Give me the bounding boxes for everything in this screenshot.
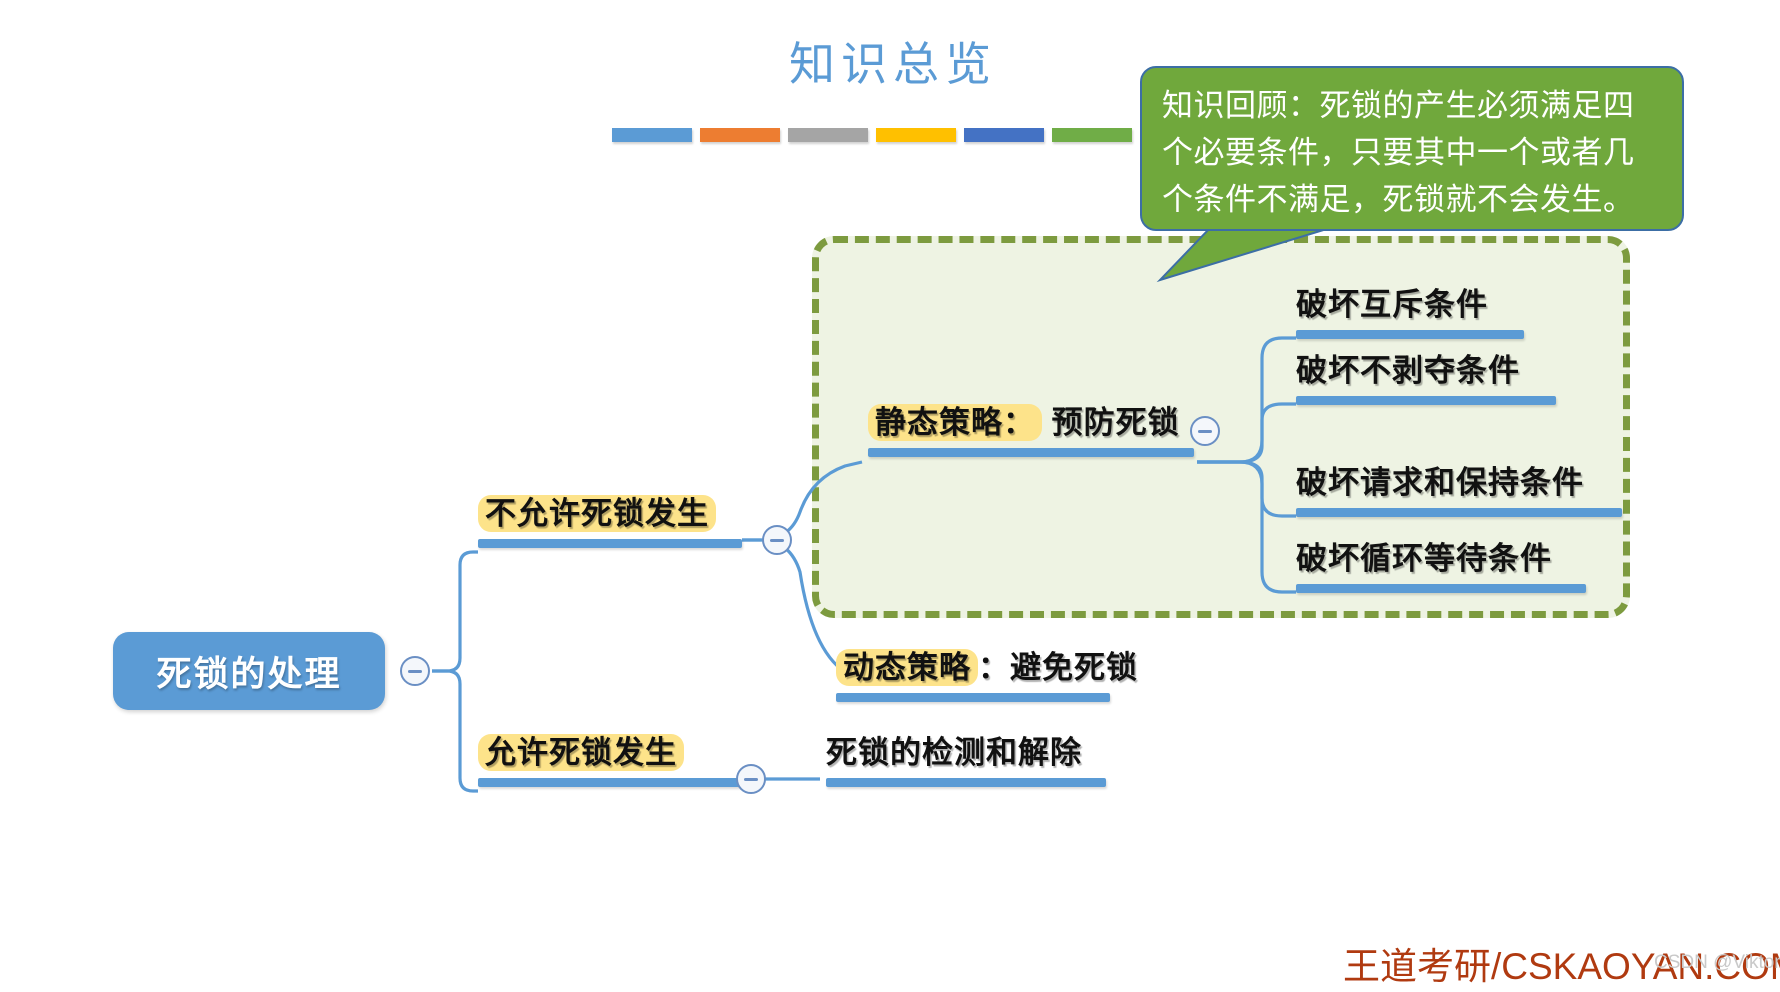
node-dynamic-strategy[interactable]: 动态策略：避免死锁 — [836, 648, 1138, 702]
node-bar-dynamic-strategy — [836, 693, 1110, 702]
node-break-circular-wait[interactable]: 破坏循环等待条件 — [1296, 539, 1586, 593]
title-bar-segment-5 — [964, 128, 1044, 142]
minus-circle-icon-allow-deadlock[interactable] — [736, 764, 766, 794]
node-break-mutex[interactable]: 破坏互斥条件 — [1296, 285, 1524, 339]
node-bar-break-hold-and-wait — [1296, 508, 1622, 517]
node-break-circular-wait-label: 破坏循环等待条件 — [1296, 539, 1552, 579]
node-break-hold-and-wait-label: 破坏请求和保持条件 — [1296, 463, 1584, 503]
node-bar-detect-and-recover — [826, 778, 1106, 787]
node-bar-static-strategy — [868, 448, 1194, 457]
node-not-allow-deadlock-label: 不允许死锁发生 — [478, 494, 716, 534]
node-allow-deadlock-label: 允许死锁发生 — [478, 733, 684, 773]
root-node-label: 死锁的处理 — [156, 646, 341, 697]
minus-circle-icon-not-allow-deadlock[interactable] — [762, 525, 792, 555]
title-bar-segment-4 — [876, 128, 956, 142]
node-static-strategy-label: 静态策略： 预防死锁 — [868, 403, 1180, 443]
node-allow-deadlock[interactable]: 允许死锁发生 — [478, 733, 742, 787]
title-color-bars — [612, 128, 1132, 142]
node-bar-break-no-preempt — [1296, 396, 1556, 405]
minus-circle-icon-root[interactable] — [400, 656, 430, 686]
footer-watermark: CSDN @Viktoriae — [1654, 952, 1780, 974]
node-dynamic-strategy-label: 动态策略：避免死锁 — [836, 648, 1138, 688]
node-break-no-preempt[interactable]: 破坏不剥夺条件 — [1296, 351, 1556, 405]
slide-canvas: 知识总览 知识回顾：死锁的产生必 — [0, 0, 1780, 992]
node-detect-and-recover-label: 死锁的检测和解除 — [826, 733, 1082, 773]
node-static-strategy[interactable]: 静态策略： 预防死锁 — [868, 403, 1194, 457]
node-detect-and-recover[interactable]: 死锁的检测和解除 — [826, 733, 1106, 787]
node-bar-allow-deadlock — [478, 778, 742, 787]
title-bar-segment-2 — [700, 128, 780, 142]
node-break-no-preempt-label: 破坏不剥夺条件 — [1296, 351, 1520, 391]
root-node-deadlock-handling[interactable]: 死锁的处理 — [113, 632, 385, 710]
node-break-mutex-label: 破坏互斥条件 — [1296, 285, 1488, 325]
node-bar-not-allow-deadlock — [478, 539, 742, 548]
title-bar-segment-3 — [788, 128, 868, 142]
callout-text: 知识回顾：死锁的产生必须满足四个必要条件，只要其中一个或者几个条件不满足，死锁就… — [1162, 82, 1662, 223]
node-not-allow-deadlock[interactable]: 不允许死锁发生 — [478, 494, 742, 548]
minus-circle-icon-static-strategy[interactable] — [1190, 416, 1220, 446]
knowledge-recap-callout: 知识回顾：死锁的产生必须满足四个必要条件，只要其中一个或者几个条件不满足，死锁就… — [1140, 66, 1684, 231]
node-break-hold-and-wait[interactable]: 破坏请求和保持条件 — [1296, 463, 1622, 517]
title-bar-segment-6 — [1052, 128, 1132, 142]
node-bar-break-circular-wait — [1296, 584, 1586, 593]
title-bar-segment-1 — [612, 128, 692, 142]
node-bar-break-mutex — [1296, 330, 1524, 339]
